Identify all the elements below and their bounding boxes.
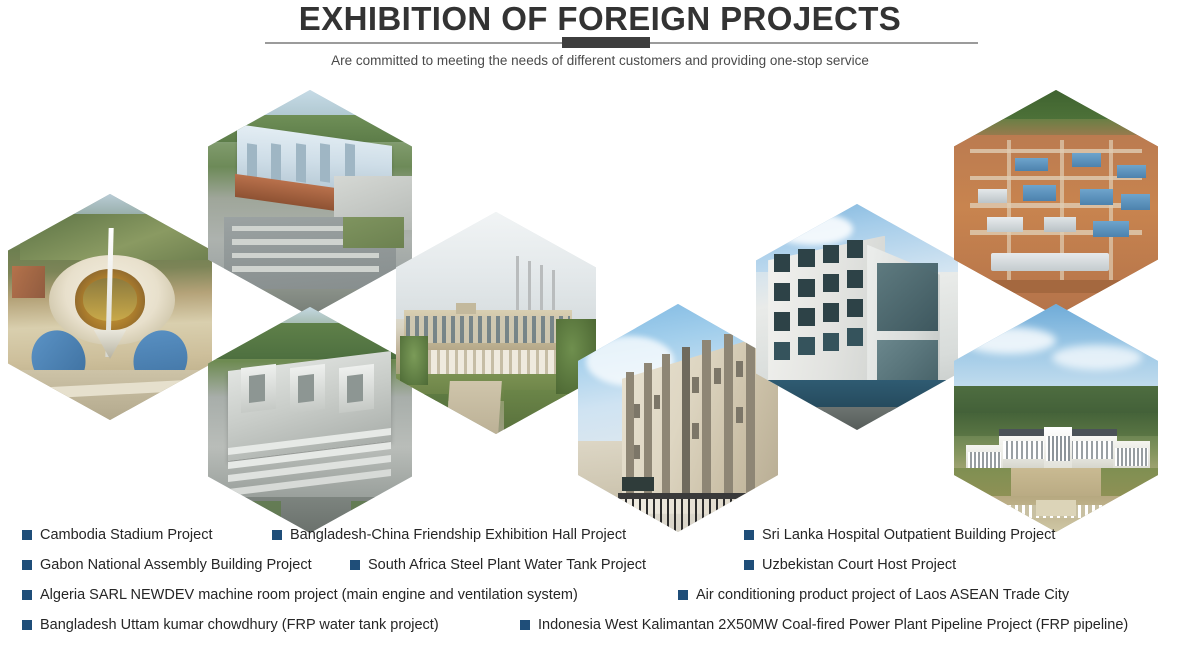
photo-bangladesh-china-hall [208, 90, 412, 316]
photo-uttam-kumar-building [578, 304, 778, 532]
bullet-square-icon [272, 530, 282, 540]
bullet-square-icon [22, 530, 32, 540]
project-caption-list: Cambodia Stadium Project Bangladesh-Chin… [0, 520, 1200, 650]
caption-label: Indonesia West Kalimantan 2X50MW Coal-fi… [538, 616, 1128, 634]
title-divider-accent [562, 37, 650, 48]
caption-item-cambodia-stadium[interactable]: Cambodia Stadium Project [22, 520, 212, 550]
caption-row: Bangladesh Uttam kumar chowdhury (FRP wa… [0, 610, 1200, 640]
caption-item-uttam-kumar[interactable]: Bangladesh Uttam kumar chowdhury (FRP wa… [22, 610, 439, 640]
page-title: EXHIBITION OF FOREIGN PROJECTS [0, 1, 1200, 37]
page-subtitle: Are committed to meeting the needs of di… [0, 52, 1200, 70]
photo-south-africa-plant [208, 307, 412, 533]
bullet-square-icon [520, 620, 530, 630]
hex-photo-bangladesh-china-hall[interactable]: Aerial view of Bangladesh-China Friendsh… [208, 90, 412, 316]
hex-photo-gabon-assembly[interactable]: Gabon National Assembly building facade … [396, 212, 596, 434]
caption-label: Bangladesh-China Friendship Exhibition H… [290, 526, 626, 544]
hexagon-photo-collage: Aerial view of Cambodia National Stadium… [0, 82, 1200, 520]
bullet-square-icon [22, 620, 32, 630]
page-header: EXHIBITION OF FOREIGN PROJECTS Are commi… [0, 0, 1200, 80]
hex-photo-laos-asean-city[interactable]: Wide view of a white government-style co… [954, 304, 1158, 532]
bullet-square-icon [678, 590, 688, 600]
caption-label: Bangladesh Uttam kumar chowdhury (FRP wa… [40, 616, 439, 634]
hex-photo-sri-lanka-hospital[interactable]: Modern white and glass multi-storey hosp… [756, 204, 958, 430]
caption-item-indonesia-kalimantan[interactable]: Indonesia West Kalimantan 2X50MW Coal-fi… [520, 610, 1128, 640]
bullet-square-icon [350, 560, 360, 570]
bullet-square-icon [744, 560, 754, 570]
photo-gabon-assembly [396, 212, 596, 434]
caption-label: Sri Lanka Hospital Outpatient Building P… [762, 526, 1055, 544]
photo-algeria-sarl-site [954, 90, 1158, 316]
photo-cambodia-stadium [8, 194, 212, 420]
caption-label: Gabon National Assembly Building Project [40, 556, 312, 574]
hex-photo-south-africa-plant[interactable]: Aerial view of grey industrial steel pla… [208, 307, 412, 533]
caption-item-bangladesh-china-hall[interactable]: Bangladesh-China Friendship Exhibition H… [272, 520, 626, 550]
caption-item-gabon-assembly[interactable]: Gabon National Assembly Building Project [22, 550, 312, 580]
bullet-square-icon [744, 530, 754, 540]
caption-label: Algeria SARL NEWDEV machine room project… [40, 586, 578, 604]
caption-item-south-africa-plant[interactable]: South Africa Steel Plant Water Tank Proj… [350, 550, 646, 580]
caption-row: Cambodia Stadium Project Bangladesh-Chin… [0, 520, 1200, 550]
caption-row: Gabon National Assembly Building Project… [0, 550, 1200, 580]
caption-item-algeria-sarl[interactable]: Algeria SARL NEWDEV machine room project… [22, 580, 578, 610]
caption-row: Algeria SARL NEWDEV machine room project… [0, 580, 1200, 610]
hex-photo-uttam-kumar-building[interactable]: Low angle view of a pale stone multi-sto… [578, 304, 778, 532]
caption-label: Cambodia Stadium Project [40, 526, 212, 544]
caption-item-uzbekistan-court[interactable]: Uzbekistan Court Host Project [744, 550, 956, 580]
hex-photo-algeria-sarl-site[interactable]: Aerial view of a large red-earth constru… [954, 90, 1158, 316]
caption-label: Air conditioning product project of Laos… [696, 586, 1069, 604]
photo-sri-lanka-hospital [756, 204, 958, 430]
caption-item-laos-asean[interactable]: Air conditioning product project of Laos… [678, 580, 1069, 610]
caption-label: Uzbekistan Court Host Project [762, 556, 956, 574]
caption-label: South Africa Steel Plant Water Tank Proj… [368, 556, 646, 574]
photo-laos-asean-city [954, 304, 1158, 532]
caption-item-sri-lanka-hospital[interactable]: Sri Lanka Hospital Outpatient Building P… [744, 520, 1055, 550]
bullet-square-icon [22, 560, 32, 570]
bullet-square-icon [22, 590, 32, 600]
hex-photo-cambodia-stadium[interactable]: Aerial view of Cambodia National Stadium… [8, 194, 212, 420]
